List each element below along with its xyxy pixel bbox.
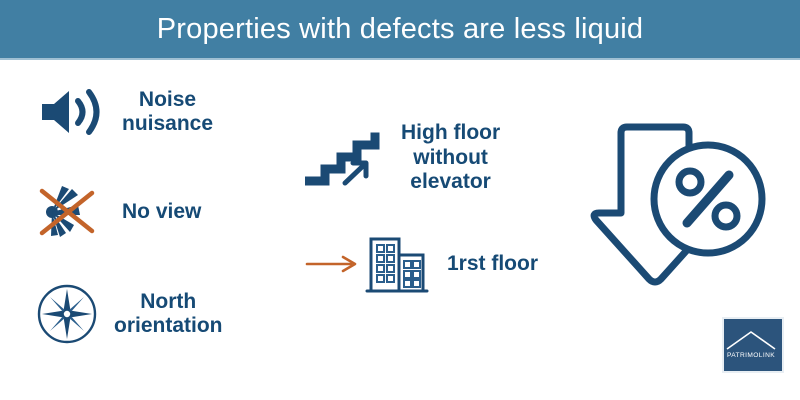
feature-label-no-view-line1: No view bbox=[122, 200, 201, 224]
feature-label-high-floor-line2: without bbox=[401, 146, 500, 170]
feature-north-orientation: North orientation bbox=[36, 276, 286, 352]
feature-no-view: No view bbox=[36, 180, 286, 244]
feature-high-floor: High floor without elevator bbox=[305, 108, 565, 208]
feature-label-first-floor-line1: 1rst floor bbox=[447, 252, 538, 276]
feature-noise-nuisance: Noise nuisance bbox=[36, 74, 286, 150]
header-underline bbox=[0, 58, 800, 60]
orange-right-arrow-icon bbox=[305, 252, 361, 276]
feature-label-high-floor: High floor without elevator bbox=[401, 121, 500, 194]
feature-label-noise-line1: Noise bbox=[122, 88, 213, 112]
infographic-canvas: Properties with defects are less liquid … bbox=[0, 0, 800, 400]
header-banner: Properties with defects are less liquid bbox=[0, 0, 800, 58]
down-arrow-with-percent-icon bbox=[585, 105, 775, 290]
logo-text: PATRIMOLINK bbox=[727, 352, 775, 359]
stairs-up-arrow-icon bbox=[305, 127, 383, 189]
compass-north-icon bbox=[36, 283, 98, 345]
buildings-icon bbox=[365, 233, 429, 295]
feature-label-north-line1: North bbox=[114, 290, 223, 314]
feature-label-first-floor: 1rst floor bbox=[447, 252, 538, 276]
feature-label-noise-line2: nuisance bbox=[122, 112, 213, 136]
feature-label-high-floor-line1: High floor bbox=[401, 121, 500, 145]
speaker-sound-icon bbox=[36, 83, 106, 141]
patrimolink-logo[interactable]: PATRIMOLINK bbox=[722, 317, 784, 373]
feature-label-north-line2: orientation bbox=[114, 314, 223, 338]
feature-label-north: North orientation bbox=[114, 290, 223, 339]
feature-label-noise: Noise nuisance bbox=[122, 88, 213, 137]
no-view-starburst-icon bbox=[36, 181, 100, 243]
page-title: Properties with defects are less liquid bbox=[157, 13, 644, 46]
feature-label-high-floor-line3: elevator bbox=[401, 170, 500, 194]
feature-first-floor: 1rst floor bbox=[305, 232, 575, 296]
feature-label-no-view: No view bbox=[122, 200, 201, 224]
